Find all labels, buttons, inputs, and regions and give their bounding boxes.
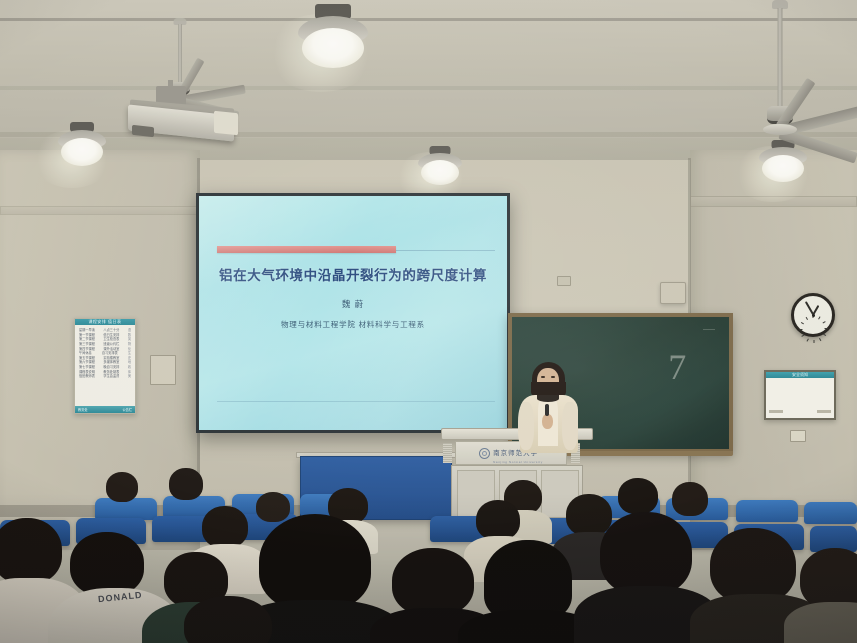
ceiling-fan — [705, 0, 855, 142]
wall-panel-box[interactable] — [150, 355, 176, 385]
podium-vent-left — [443, 443, 452, 463]
head — [672, 482, 708, 516]
head — [392, 548, 474, 616]
head — [202, 506, 248, 548]
slide-footer-rule — [217, 401, 494, 402]
presenter-eye — [541, 376, 545, 378]
slide-affiliation: 物理与材料工程学院 材料科学与工程系 — [199, 319, 507, 330]
shoulders — [784, 602, 857, 643]
head — [618, 478, 658, 514]
presenter — [512, 362, 584, 458]
head — [600, 512, 692, 596]
projection-screen: 铝在大气环境中沿晶开裂行为的跨尺度计算 魏 蔚 物理与材料工程学院 材料科学与工… — [196, 193, 510, 433]
notice-footer-right: 公告栏 — [122, 407, 132, 412]
pendant-light — [752, 140, 814, 196]
head — [476, 500, 520, 540]
wall-clock — [791, 293, 835, 337]
notice-board: 课程安排 值日表 星期一早读八点三十分语第一节课程值日生安排数第二节课程卫生检查… — [74, 318, 136, 414]
wall-speaker — [660, 282, 686, 304]
notice-row-left: 值班教师表 — [79, 374, 95, 379]
lecture-hall-photo: 铝在大气环境中沿晶开裂行为的跨尺度计算 魏 蔚 物理与材料工程学院 材料科学与工… — [0, 0, 857, 643]
head — [106, 472, 138, 502]
screen-glare — [199, 196, 507, 430]
slide-title: 铝在大气环境中沿晶开裂行为的跨尺度计算 — [199, 264, 507, 284]
head — [184, 596, 272, 643]
university-logo-icon — [479, 448, 490, 459]
presenter-eye — [551, 376, 555, 378]
audience-member — [100, 472, 144, 512]
head — [0, 518, 62, 584]
university-name-en: Nanjing Normal University — [493, 460, 543, 464]
notice-row: 值班教师表学生会监督美 — [79, 374, 131, 379]
wall-duct — [0, 206, 200, 215]
presenter-collar — [537, 395, 559, 402]
audience-member — [470, 540, 588, 643]
audience-member — [584, 512, 706, 643]
projected-slide: 铝在大气环境中沿晶开裂行为的跨尺度计算 魏 蔚 物理与材料工程学院 材料科学与工… — [199, 196, 507, 430]
head — [70, 532, 144, 596]
slide-author: 魏 蔚 — [199, 298, 507, 310]
head — [800, 548, 857, 610]
notice-board-footer: 教务处 公告栏 — [75, 406, 135, 413]
wall-switch-box[interactable] — [790, 430, 806, 442]
pendant-light — [290, 0, 376, 78]
right-wall-board: 安全须知 — [764, 370, 836, 420]
presenter-arm-right — [562, 402, 578, 450]
notice-board-rows: 星期一早读八点三十分语第一节课程值日生安排数第二节课程卫生检查表英第三节课程班级… — [75, 325, 135, 382]
pendant-light — [52, 122, 112, 178]
presenter-arm-left — [518, 402, 534, 450]
head — [484, 540, 572, 620]
head — [710, 528, 796, 604]
presenter-hand — [542, 414, 553, 429]
pendant-light — [412, 146, 468, 198]
chair[interactable] — [736, 500, 798, 522]
chair[interactable] — [804, 502, 857, 524]
notice-footer-left: 教务处 — [78, 407, 88, 412]
wall-sensor — [557, 276, 571, 286]
notice-row-tag: 美 — [128, 374, 131, 379]
slide-accent-bar — [217, 246, 396, 253]
audience-member — [792, 548, 857, 643]
head — [169, 468, 203, 500]
microphone — [545, 404, 549, 416]
audience-member — [168, 596, 288, 643]
clock-center-pin — [812, 314, 815, 317]
notice-row-right: 学生会监督 — [103, 374, 119, 379]
right-wall-board-header: 安全须知 — [766, 372, 834, 378]
